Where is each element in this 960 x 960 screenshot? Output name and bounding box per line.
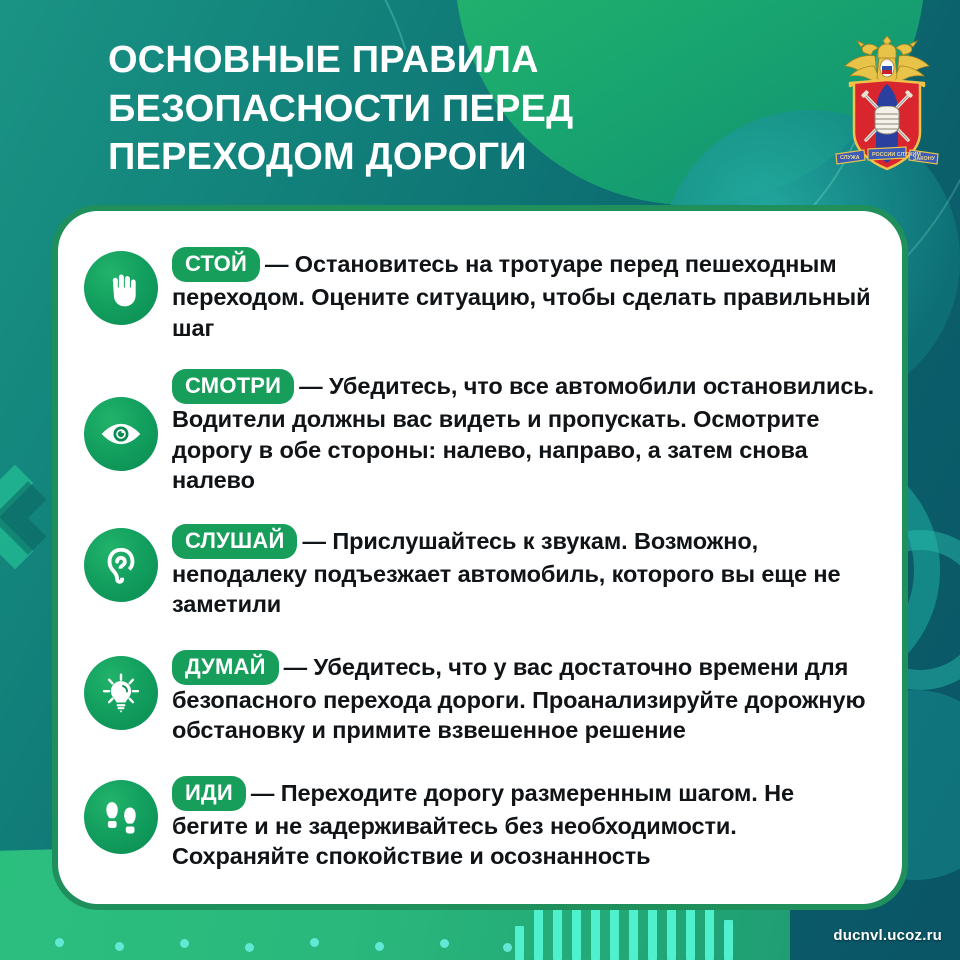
dots-decoration bbox=[55, 912, 525, 952]
svg-text:СЛУЖА: СЛУЖА bbox=[840, 155, 860, 161]
rule-description: — Остановитесь на тротуаре перед пешеход… bbox=[172, 251, 870, 341]
rule-description: — Переходите дорогу размеренным шагом. Н… bbox=[172, 780, 794, 870]
poster-root: ОСНОВНЫЕ ПРАВИЛА БЕЗОПАСНОСТИ ПЕРЕД ПЕРЕ… bbox=[0, 0, 960, 960]
rule-text-wrapper: ИДИ— Переходите дорогу размеренным шагом… bbox=[172, 774, 876, 872]
svg-text:ЗАКОНУ: ЗАКОНУ bbox=[913, 156, 936, 162]
lightbulb-icon bbox=[84, 656, 158, 730]
page-title: ОСНОВНЫЕ ПРАВИЛА БЕЗОПАСНОСТИ ПЕРЕД ПЕРЕ… bbox=[108, 36, 718, 182]
rule-item: СЛУШАЙ— Прислушайтесь к звукам. Возможно… bbox=[84, 522, 876, 620]
rule-item: ДУМАЙ— Убедитесь, что у вас достаточно в… bbox=[84, 648, 876, 746]
site-watermark: ducnvl.ucoz.ru bbox=[833, 927, 942, 944]
rules-list: СТОЙ— Остановитесь на тротуаре перед пеш… bbox=[84, 245, 876, 872]
hand-palm-icon bbox=[84, 251, 158, 325]
rule-badge: ДУМАЙ bbox=[172, 650, 279, 685]
mvd-emblem: СЛУЖА РОССИИ СЛУЖИМ ЗАКОНУ bbox=[828, 28, 946, 178]
rule-badge: СМОТРИ bbox=[172, 369, 294, 404]
rule-badge: СТОЙ bbox=[172, 247, 260, 282]
rule-badge: СЛУШАЙ bbox=[172, 524, 297, 559]
rule-badge: ИДИ bbox=[172, 776, 246, 811]
rule-text-wrapper: СТОЙ— Остановитесь на тротуаре перед пеш… bbox=[172, 245, 876, 343]
ear-icon bbox=[84, 528, 158, 602]
rules-card: СТОЙ— Остановитесь на тротуаре перед пеш… bbox=[52, 205, 908, 910]
rule-item: СТОЙ— Остановитесь на тротуаре перед пеш… bbox=[84, 245, 876, 343]
rule-text-wrapper: СЛУШАЙ— Прислушайтесь к звукам. Возможно… bbox=[172, 522, 876, 620]
rule-text-wrapper: СМОТРИ— Убедитесь, что все автомобили ос… bbox=[172, 367, 876, 496]
rule-item: СМОТРИ— Убедитесь, что все автомобили ос… bbox=[84, 367, 876, 496]
rule-text-wrapper: ДУМАЙ— Убедитесь, что у вас достаточно в… bbox=[172, 648, 876, 746]
eye-icon bbox=[84, 397, 158, 471]
rule-item: ИДИ— Переходите дорогу размеренным шагом… bbox=[84, 774, 876, 872]
footprints-icon bbox=[84, 780, 158, 854]
header: ОСНОВНЫЕ ПРАВИЛА БЕЗОПАСНОСТИ ПЕРЕД ПЕРЕ… bbox=[0, 0, 960, 200]
